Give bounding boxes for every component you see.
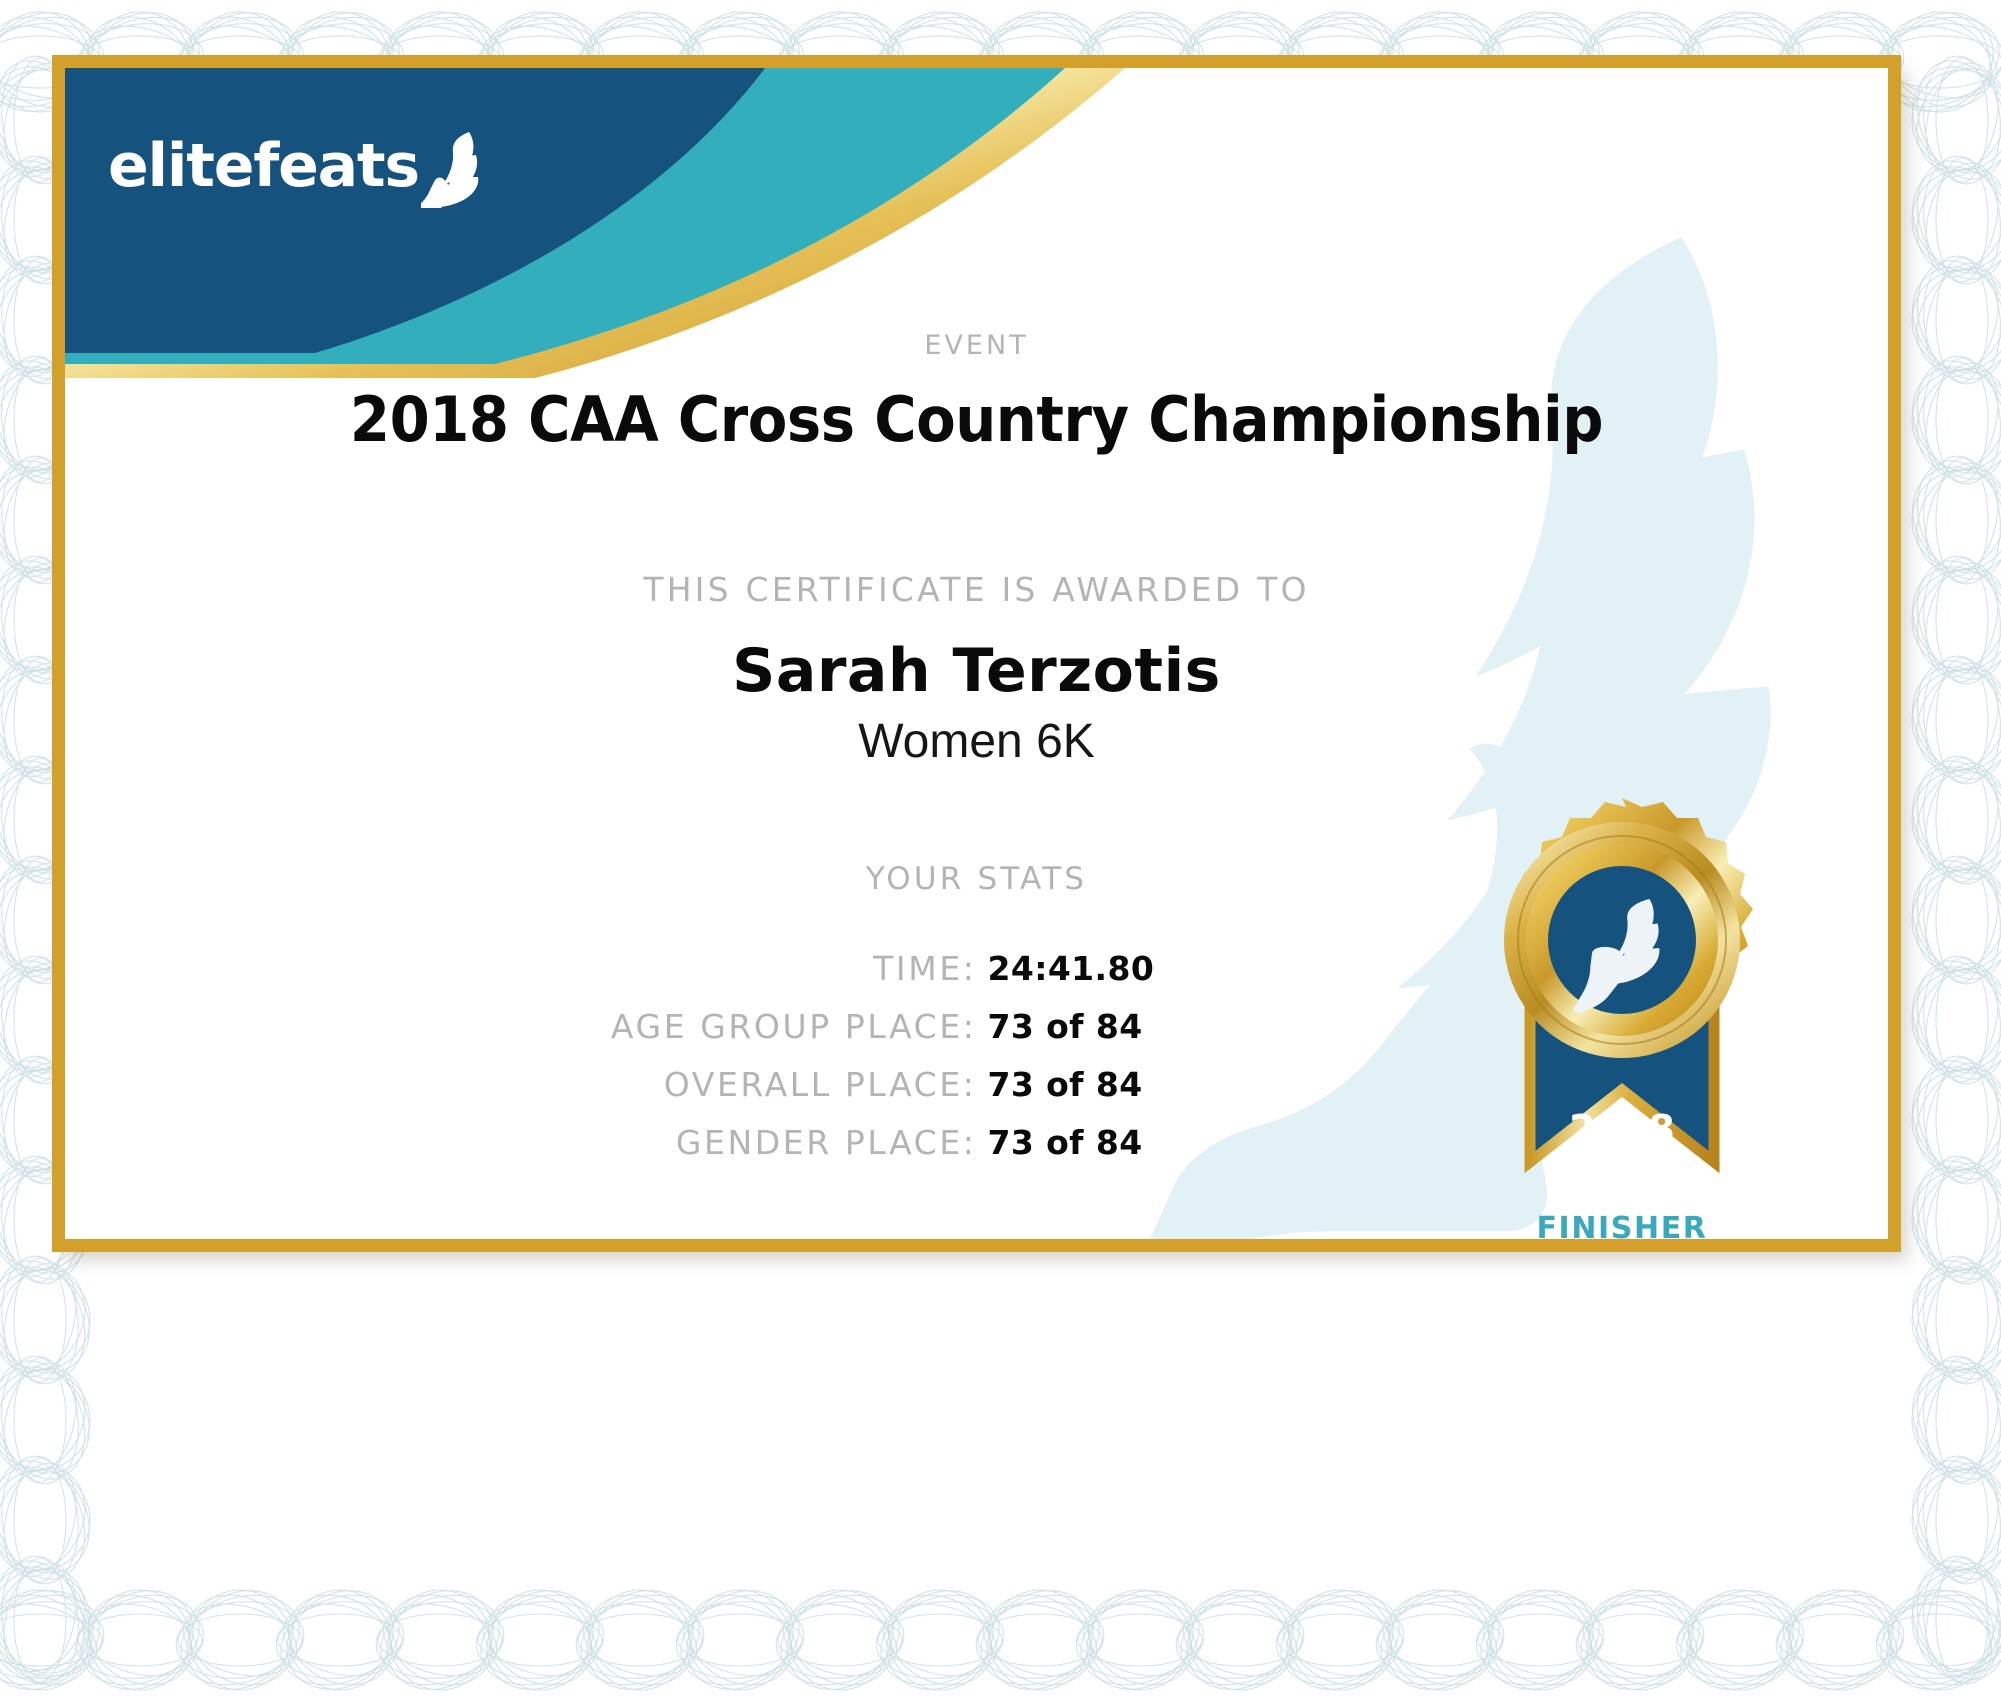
finisher-badge: 2018 FINISHER CERTIFICATE: [1452, 790, 1792, 1239]
stat-label: OVERALL PLACE:: [65, 1065, 988, 1104]
event-label: EVENT: [65, 330, 1888, 361]
stat-label: GENDER PLACE:: [65, 1123, 988, 1162]
badge-caption: FINISHER CERTIFICATE: [1452, 1212, 1792, 1239]
stat-label: AGE GROUP PLACE:: [65, 1007, 988, 1046]
recipient-name: Sarah Terzotis: [65, 639, 1888, 704]
recipient-division: Women 6K: [65, 714, 1888, 769]
badge-year: 2018: [1569, 1107, 1675, 1151]
awarded-to-label: THIS CERTIFICATE IS AWARDED TO: [65, 570, 1888, 609]
event-title: 2018 CAA Cross Country Championship: [129, 387, 1824, 452]
badge-caption-line1: FINISHER: [1452, 1212, 1792, 1239]
certificate-frame: elitefeats EVENT 2018 CAA Cross Cou: [52, 55, 1901, 1252]
gold-medal-winged-foot-icon: 2018: [1452, 790, 1792, 1210]
stat-label: TIME:: [65, 949, 988, 988]
certificate-page: elitefeats EVENT 2018 CAA Cross Cou: [0, 0, 2001, 1700]
